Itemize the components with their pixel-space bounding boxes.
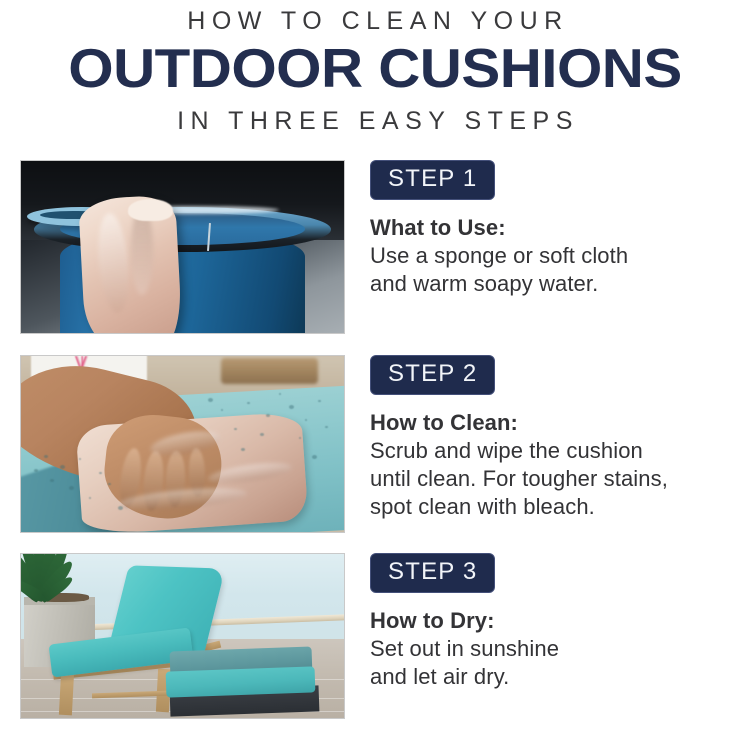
header-subtitle: IN THREE EASY STEPS — [6, 106, 750, 136]
step-1-photo-bucket-with-cloth — [20, 160, 345, 334]
water-droplet — [34, 469, 38, 472]
step-1-badge: STEP 1 — [370, 160, 495, 200]
cloth-top-tip — [128, 199, 173, 221]
water-droplet — [60, 465, 65, 469]
step-1-text-block: STEP 1 What to Use: Use a sponge or soft… — [370, 160, 745, 298]
water-droplet — [118, 506, 123, 510]
background-wood-shelf — [221, 358, 318, 384]
header-eyebrow: HOW TO CLEAN YOUR — [6, 6, 750, 36]
stacked-cushion-lower — [166, 666, 315, 697]
chair-frame-bar — [59, 672, 74, 715]
step-1-body: Use a sponge or soft cloth and warm soap… — [370, 242, 745, 298]
step-1-heading: What to Use: — [370, 214, 745, 241]
page-title: OUTDOOR CUSHIONS — [0, 40, 750, 96]
step-row-2: STEP 2 How to Clean: Scrub and wipe the … — [0, 355, 750, 533]
step-3-text-block: STEP 3 How to Dry: Set out in sunshine a… — [370, 553, 745, 691]
step-3-photo-lounge-chair — [20, 553, 345, 719]
step-row-3: STEP 3 How to Dry: Set out in sunshine a… — [0, 553, 750, 719]
step-2-text-block: STEP 2 How to Clean: Scrub and wipe the … — [370, 355, 745, 521]
step-2-body: Scrub and wipe the cushion until clean. … — [370, 437, 745, 521]
water-droplet — [247, 402, 250, 404]
infographic-header: HOW TO CLEAN YOUR OUTDOOR CUSHIONS IN TH… — [0, 0, 750, 136]
step-2-badge: STEP 2 — [370, 355, 495, 395]
step-3-badge: STEP 3 — [370, 553, 495, 593]
step-3-body: Set out in sunshine and let air dry. — [370, 635, 745, 691]
step-2-photo-wiping-cushion — [20, 355, 345, 533]
water-droplet — [108, 483, 111, 485]
water-droplet — [312, 455, 317, 459]
water-droplet — [299, 437, 301, 439]
step-3-heading: How to Dry: — [370, 607, 745, 634]
water-droplet — [89, 497, 91, 499]
water-droplet — [99, 472, 102, 474]
water-droplet — [241, 448, 245, 451]
water-droplet — [44, 455, 48, 458]
step-row-1: STEP 1 What to Use: Use a sponge or soft… — [0, 160, 750, 334]
step-2-heading: How to Clean: — [370, 409, 745, 436]
